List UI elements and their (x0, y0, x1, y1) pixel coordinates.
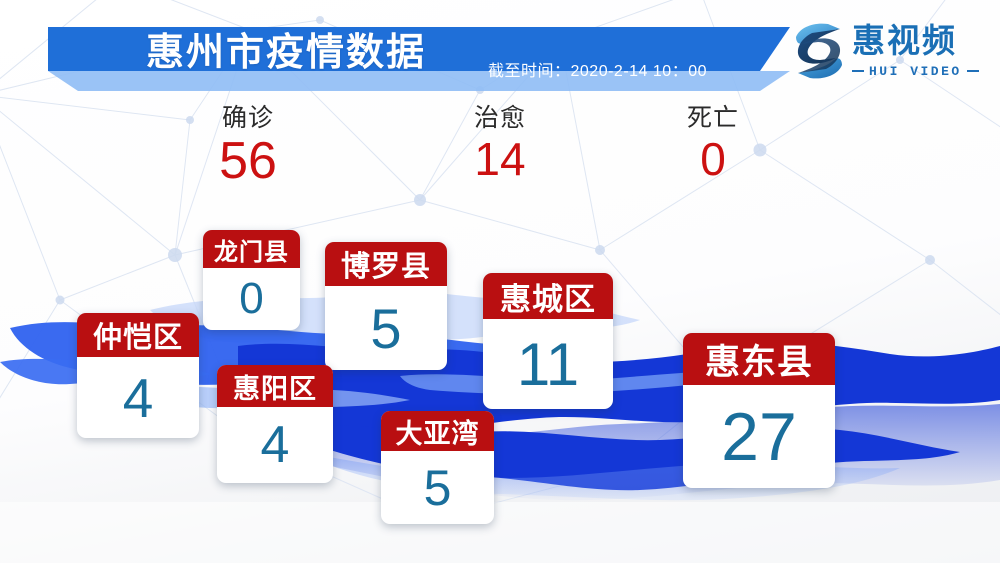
district-card-dayawan-name: 大亚湾 (381, 411, 494, 451)
district-card-huidong-value: 27 (683, 385, 835, 488)
stat-cured-value: 14 (435, 133, 565, 185)
timestamp-text: 截至时间：2020-2-14 10：00 (488, 57, 707, 81)
stat-confirmed-label: 确诊 (183, 103, 313, 133)
page-title: 惠州市疫情数据 (146, 34, 426, 72)
district-card-huiyang-value: 4 (217, 407, 333, 483)
district-card-huiyang-name: 惠阳区 (217, 365, 333, 407)
district-card-huidong[interactable]: 惠东县 27 (683, 333, 835, 488)
s-swirl-logo-icon (790, 20, 848, 82)
stat-cured: 治愈 14 (435, 103, 565, 185)
district-card-huicheng-value: 11 (483, 319, 613, 409)
district-card-dayawan-value: 5 (381, 451, 494, 524)
district-card-zhongkai-name: 仲恺区 (77, 313, 199, 357)
district-card-boluo-value: 5 (325, 286, 447, 370)
logo-wordmark: 惠视频 (852, 20, 986, 62)
logo-subtitle-text: HUI VIDEO (869, 64, 962, 79)
district-card-longmen-name: 龙门县 (203, 230, 300, 268)
district-card-huiyang[interactable]: 惠阳区 4 (217, 365, 333, 483)
district-card-boluo[interactable]: 博罗县 5 (325, 242, 447, 370)
district-card-dayawan[interactable]: 大亚湾 5 (381, 411, 494, 524)
district-card-longmen-value: 0 (203, 268, 300, 330)
header-banner: 惠州市疫情数据 截至时间：2020-2-14 10：00 (0, 13, 790, 85)
summary-stats: 确诊 56 治愈 14 死亡 0 (0, 103, 790, 193)
district-card-huicheng-name: 惠城区 (483, 273, 613, 319)
brand-logo: 惠视频 HUI VIDEO (788, 14, 988, 90)
district-card-huidong-name: 惠东县 (683, 333, 835, 385)
district-card-huicheng[interactable]: 惠城区 11 (483, 273, 613, 409)
logo-subtitle: HUI VIDEO (852, 63, 988, 79)
logo-rule-right (967, 70, 979, 72)
stat-cured-label: 治愈 (435, 103, 565, 133)
stat-deaths-label: 死亡 (648, 103, 778, 133)
stat-confirmed-value: 56 (183, 133, 313, 189)
district-card-boluo-name: 博罗县 (325, 242, 447, 286)
stat-deaths: 死亡 0 (648, 103, 778, 185)
logo-rule-left (852, 70, 864, 72)
stat-confirmed: 确诊 56 (183, 103, 313, 189)
infographic-stage: 惠州市疫情数据 截至时间：2020-2-14 10：00 惠视频 (0, 0, 1000, 563)
district-card-zhongkai[interactable]: 仲恺区 4 (77, 313, 199, 438)
district-card-longmen[interactable]: 龙门县 0 (203, 230, 300, 330)
stat-deaths-value: 0 (648, 133, 778, 185)
district-card-zhongkai-value: 4 (77, 357, 199, 438)
